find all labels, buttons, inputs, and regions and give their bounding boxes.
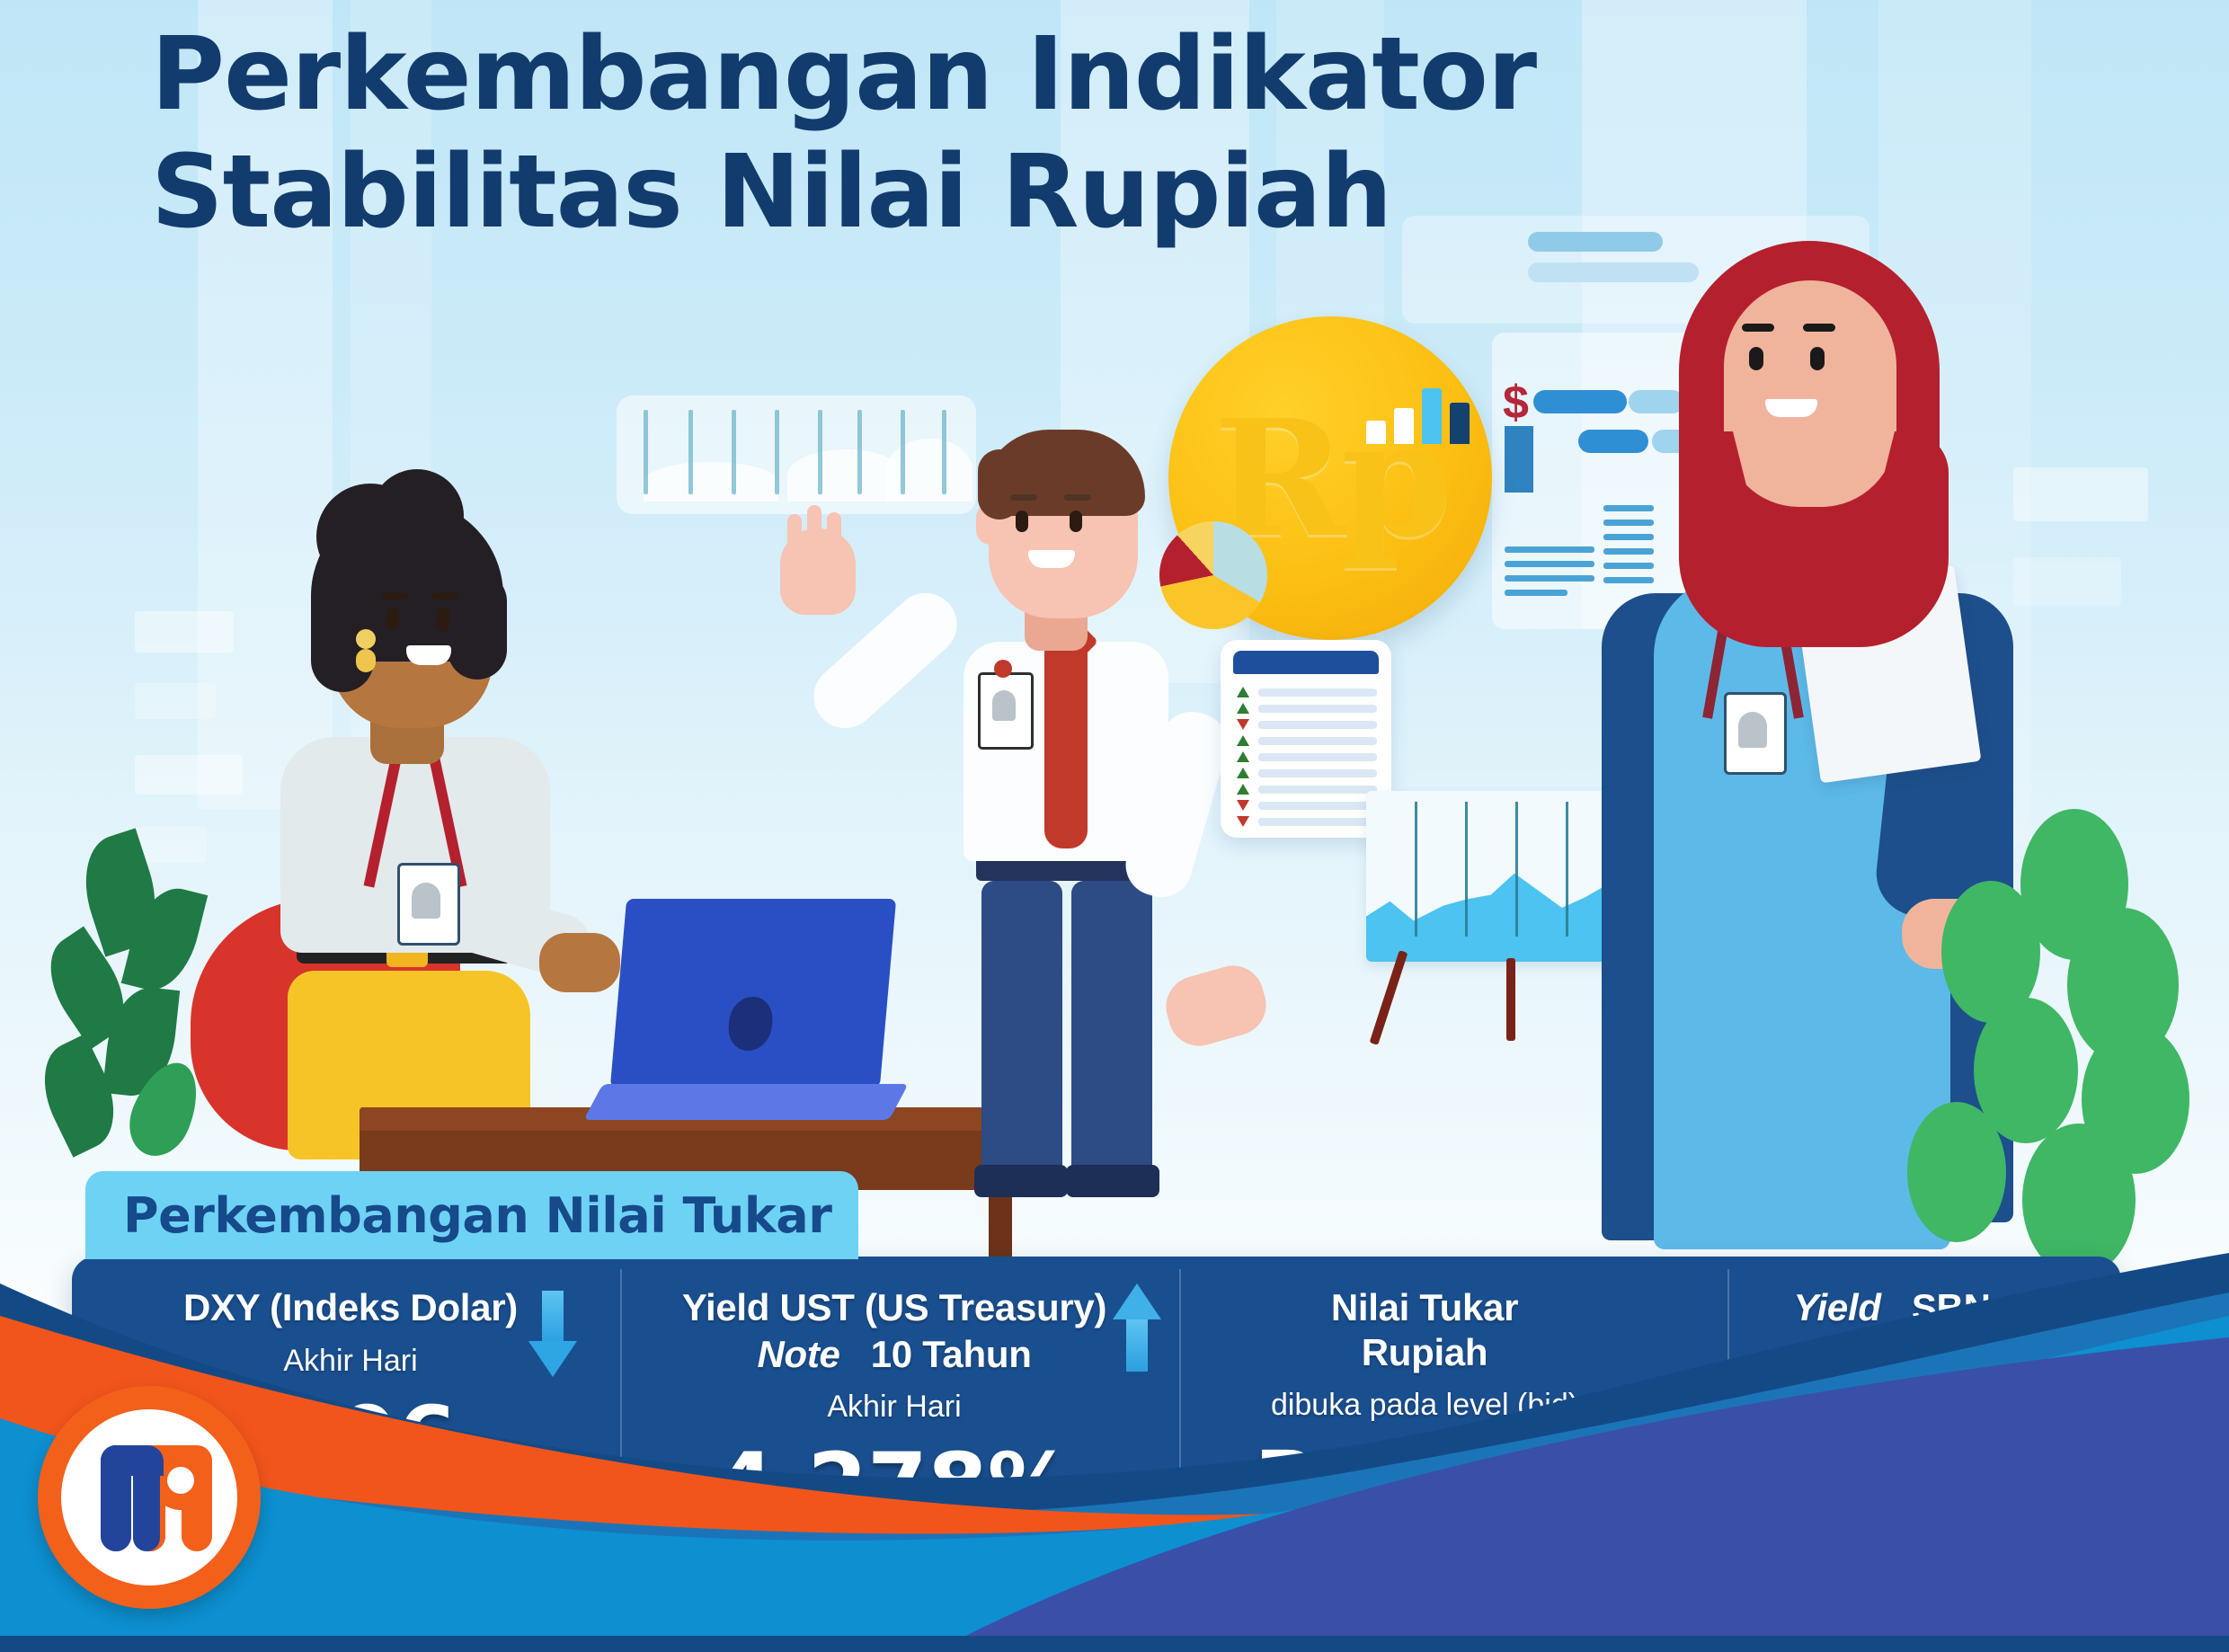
dollar-icon: $ — [1503, 376, 1529, 430]
title-line-1: Perkembangan Indikator — [151, 16, 1536, 133]
coin-bar-chart-icon — [1366, 385, 1470, 444]
page-title: Perkembangan Indikator Stabilitas Nilai … — [151, 16, 1679, 252]
background-chart-panel — [617, 395, 976, 514]
pie-chart-icon — [1159, 521, 1267, 629]
laptop — [593, 899, 890, 1122]
bottom-wave-decoration — [0, 1230, 2229, 1652]
list-card-header — [1233, 651, 1379, 674]
open-hand — [1159, 958, 1273, 1052]
brand-logo[interactable] — [38, 1386, 261, 1609]
title-line-2: Stabilitas Nilai Rupiah — [151, 134, 1679, 252]
infographic-canvas: $ Perkembangan Indikator Stabilitas Nila… — [0, 0, 2229, 1652]
